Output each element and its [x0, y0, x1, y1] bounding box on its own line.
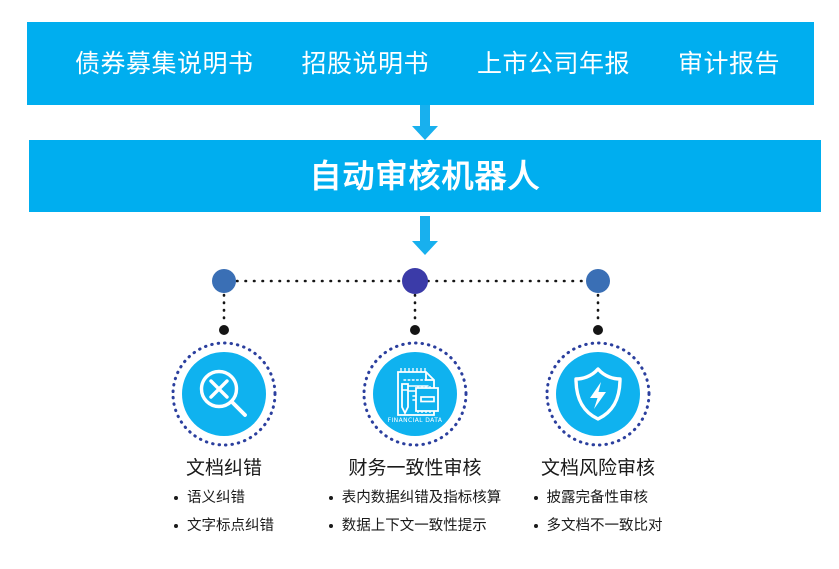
- feature-bullets: 表内数据纠错及指标核算 数据上下文一致性提示: [329, 491, 502, 546]
- feature-bullet: 披露完备性审核: [534, 491, 663, 506]
- feature-icon-wrap: [544, 340, 652, 448]
- terminal-dot-2: [410, 325, 420, 335]
- down-arrow-icon-middle: [412, 216, 438, 256]
- connector-network: [0, 255, 839, 345]
- magnifier-x-icon: [182, 352, 266, 436]
- feature-bullet: 多文档不一致比对: [534, 519, 663, 534]
- source-item-1: 债券募集说明书: [75, 51, 254, 76]
- arrow-stem: [420, 216, 430, 242]
- terminal-dot-1: [219, 325, 229, 335]
- feature-bullet: 语义纠错: [174, 491, 274, 506]
- feature-title: 文档风险审核: [478, 459, 718, 478]
- terminal-dot-3: [593, 325, 603, 335]
- feature-icon-wrap: FINANCIAL DATA: [361, 340, 469, 448]
- financial-document-pen-icon: FINANCIAL DATA: [373, 352, 457, 436]
- arrow-head: [412, 126, 438, 140]
- feature-bullet: 表内数据纠错及指标核算: [329, 491, 502, 506]
- source-item-3: 上市公司年报: [477, 51, 630, 76]
- feature-bullet: 数据上下文一致性提示: [329, 519, 502, 534]
- feature-bullets: 语义纠错 文字标点纠错: [174, 491, 274, 546]
- sources-banner: 债券募集说明书 招股说明书 上市公司年报 审计报告: [27, 22, 814, 105]
- node-dot-1: [212, 269, 236, 293]
- feature-bullets: 披露完备性审核 多文档不一致比对: [534, 491, 663, 546]
- source-item-4: 审计报告: [678, 51, 780, 76]
- arrow-head: [412, 241, 438, 255]
- diagram-canvas: 债券募集说明书 招股说明书 上市公司年报 审计报告 自动审核机器人: [0, 0, 839, 569]
- financial-data-caption: FINANCIAL DATA: [388, 417, 443, 424]
- robot-title: 自动审核机器人: [309, 160, 540, 192]
- feature-document-risk[interactable]: 文档风险审核 披露完备性审核 多文档不一致比对: [478, 340, 718, 546]
- shield-bolt-icon: [556, 352, 640, 436]
- feature-columns: 文档纠错 语义纠错 文字标点纠错: [0, 340, 839, 565]
- source-item-2: 招股说明书: [301, 51, 429, 76]
- feature-bullet: 文字标点纠错: [174, 519, 274, 534]
- node-dot-2: [402, 268, 428, 294]
- feature-icon-wrap: [170, 340, 278, 448]
- node-dot-3: [586, 269, 610, 293]
- down-arrow-icon-top: [412, 105, 438, 140]
- arrow-stem: [420, 105, 430, 127]
- robot-banner: 自动审核机器人: [29, 140, 821, 212]
